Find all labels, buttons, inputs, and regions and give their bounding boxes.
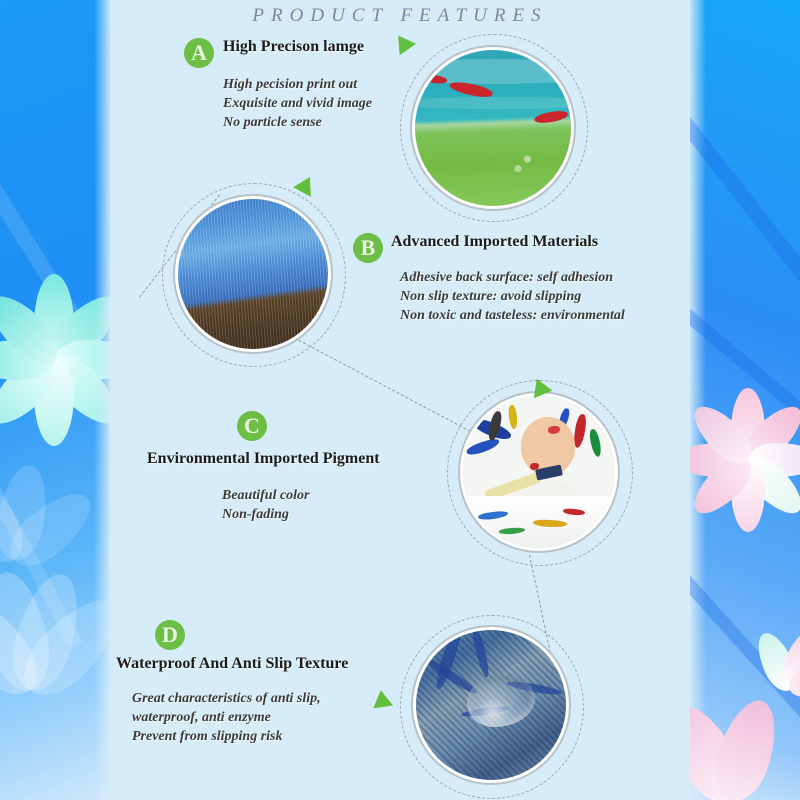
main-panel: PRODUCT FEATURES A High Precison lamge H…	[110, 0, 690, 800]
right-decorative-border	[690, 0, 800, 800]
body-c-line-1: Beautiful color	[222, 486, 310, 505]
badge-d: D	[155, 620, 185, 650]
body-d: Great characteristics of anti slip, wate…	[132, 689, 321, 746]
badge-c: C	[237, 411, 267, 441]
heading-b: Advanced Imported Materials	[391, 233, 598, 251]
arrow-d	[371, 689, 393, 709]
arrow-a	[390, 30, 416, 55]
body-b-line-2: Non slip texture: avoid slipping	[400, 287, 625, 306]
body-b-line-1: Adhesive back surface: self adhesion	[400, 268, 625, 287]
product-features-infographic: PRODUCT FEATURES A High Precison lamge H…	[0, 0, 800, 800]
body-a-line-3: No particle sense	[223, 113, 372, 132]
badge-a: A	[184, 38, 214, 68]
left-decorative-border	[0, 0, 110, 800]
koi-pond-photo	[415, 50, 571, 206]
painting-baby-photo	[463, 396, 615, 548]
body-d-line-1: Great characteristics of anti slip,	[132, 689, 321, 708]
body-d-line-2: waterproof, anti enzyme	[132, 708, 321, 727]
waterdrop-texture-photo	[416, 630, 566, 780]
body-c: Beautiful color Non-fading	[222, 486, 310, 524]
heading-a: High Precison lamge	[223, 38, 364, 56]
badge-b: B	[353, 233, 383, 263]
body-b-line-3: Non toxic and tasteless: environmental	[400, 306, 625, 325]
blue-fabric-photo	[178, 199, 328, 349]
heading-d: Waterproof And Anti Slip Texture	[116, 655, 348, 673]
body-a-line-2: Exquisite and vivid image	[223, 94, 372, 113]
page-title: PRODUCT FEATURES	[110, 5, 690, 27]
heading-c: Environmental Imported Pigment	[147, 450, 380, 468]
body-c-line-2: Non-fading	[222, 505, 310, 524]
body-d-line-3: Prevent from slipping risk	[132, 727, 321, 746]
body-a: High pecision print out Exquisite and vi…	[223, 75, 372, 132]
body-a-line-1: High pecision print out	[223, 75, 372, 94]
body-b: Adhesive back surface: self adhesion Non…	[400, 268, 625, 325]
